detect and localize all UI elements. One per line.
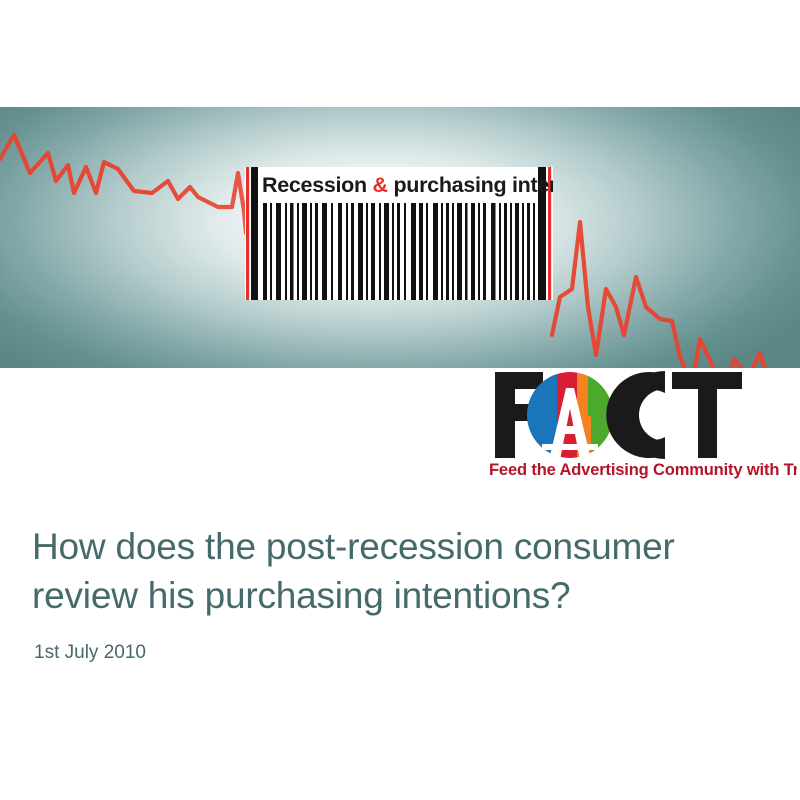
page-title: How does the post-recession consumer rev… [32,522,772,620]
title-slide: Recession & purchasing intention [0,0,800,800]
barcode-caption-part-2: purchasing intention [388,173,553,197]
barcode-caption-part-1: Recession [262,173,373,197]
barcode-caption: Recession & purchasing intention [262,173,553,197]
barcode-graphic: Recession & purchasing intention [245,167,553,300]
presentation-date: 1st July 2010 [34,642,772,664]
trend-line-left [0,135,246,233]
trend-line-right [552,222,800,368]
fact-logo: Feed the Advertising Community with Tren… [487,368,797,480]
barcode-terminator-left [251,167,258,300]
title-text-block: How does the post-recession consumer rev… [32,522,772,664]
fact-tagline: Feed the Advertising Community with Tren… [489,461,797,479]
barcode-caption-ampersand: & [373,173,388,197]
fact-letter-t [672,372,742,458]
barcode-guard-left-red [246,167,249,300]
barcode-stripes [263,203,535,300]
